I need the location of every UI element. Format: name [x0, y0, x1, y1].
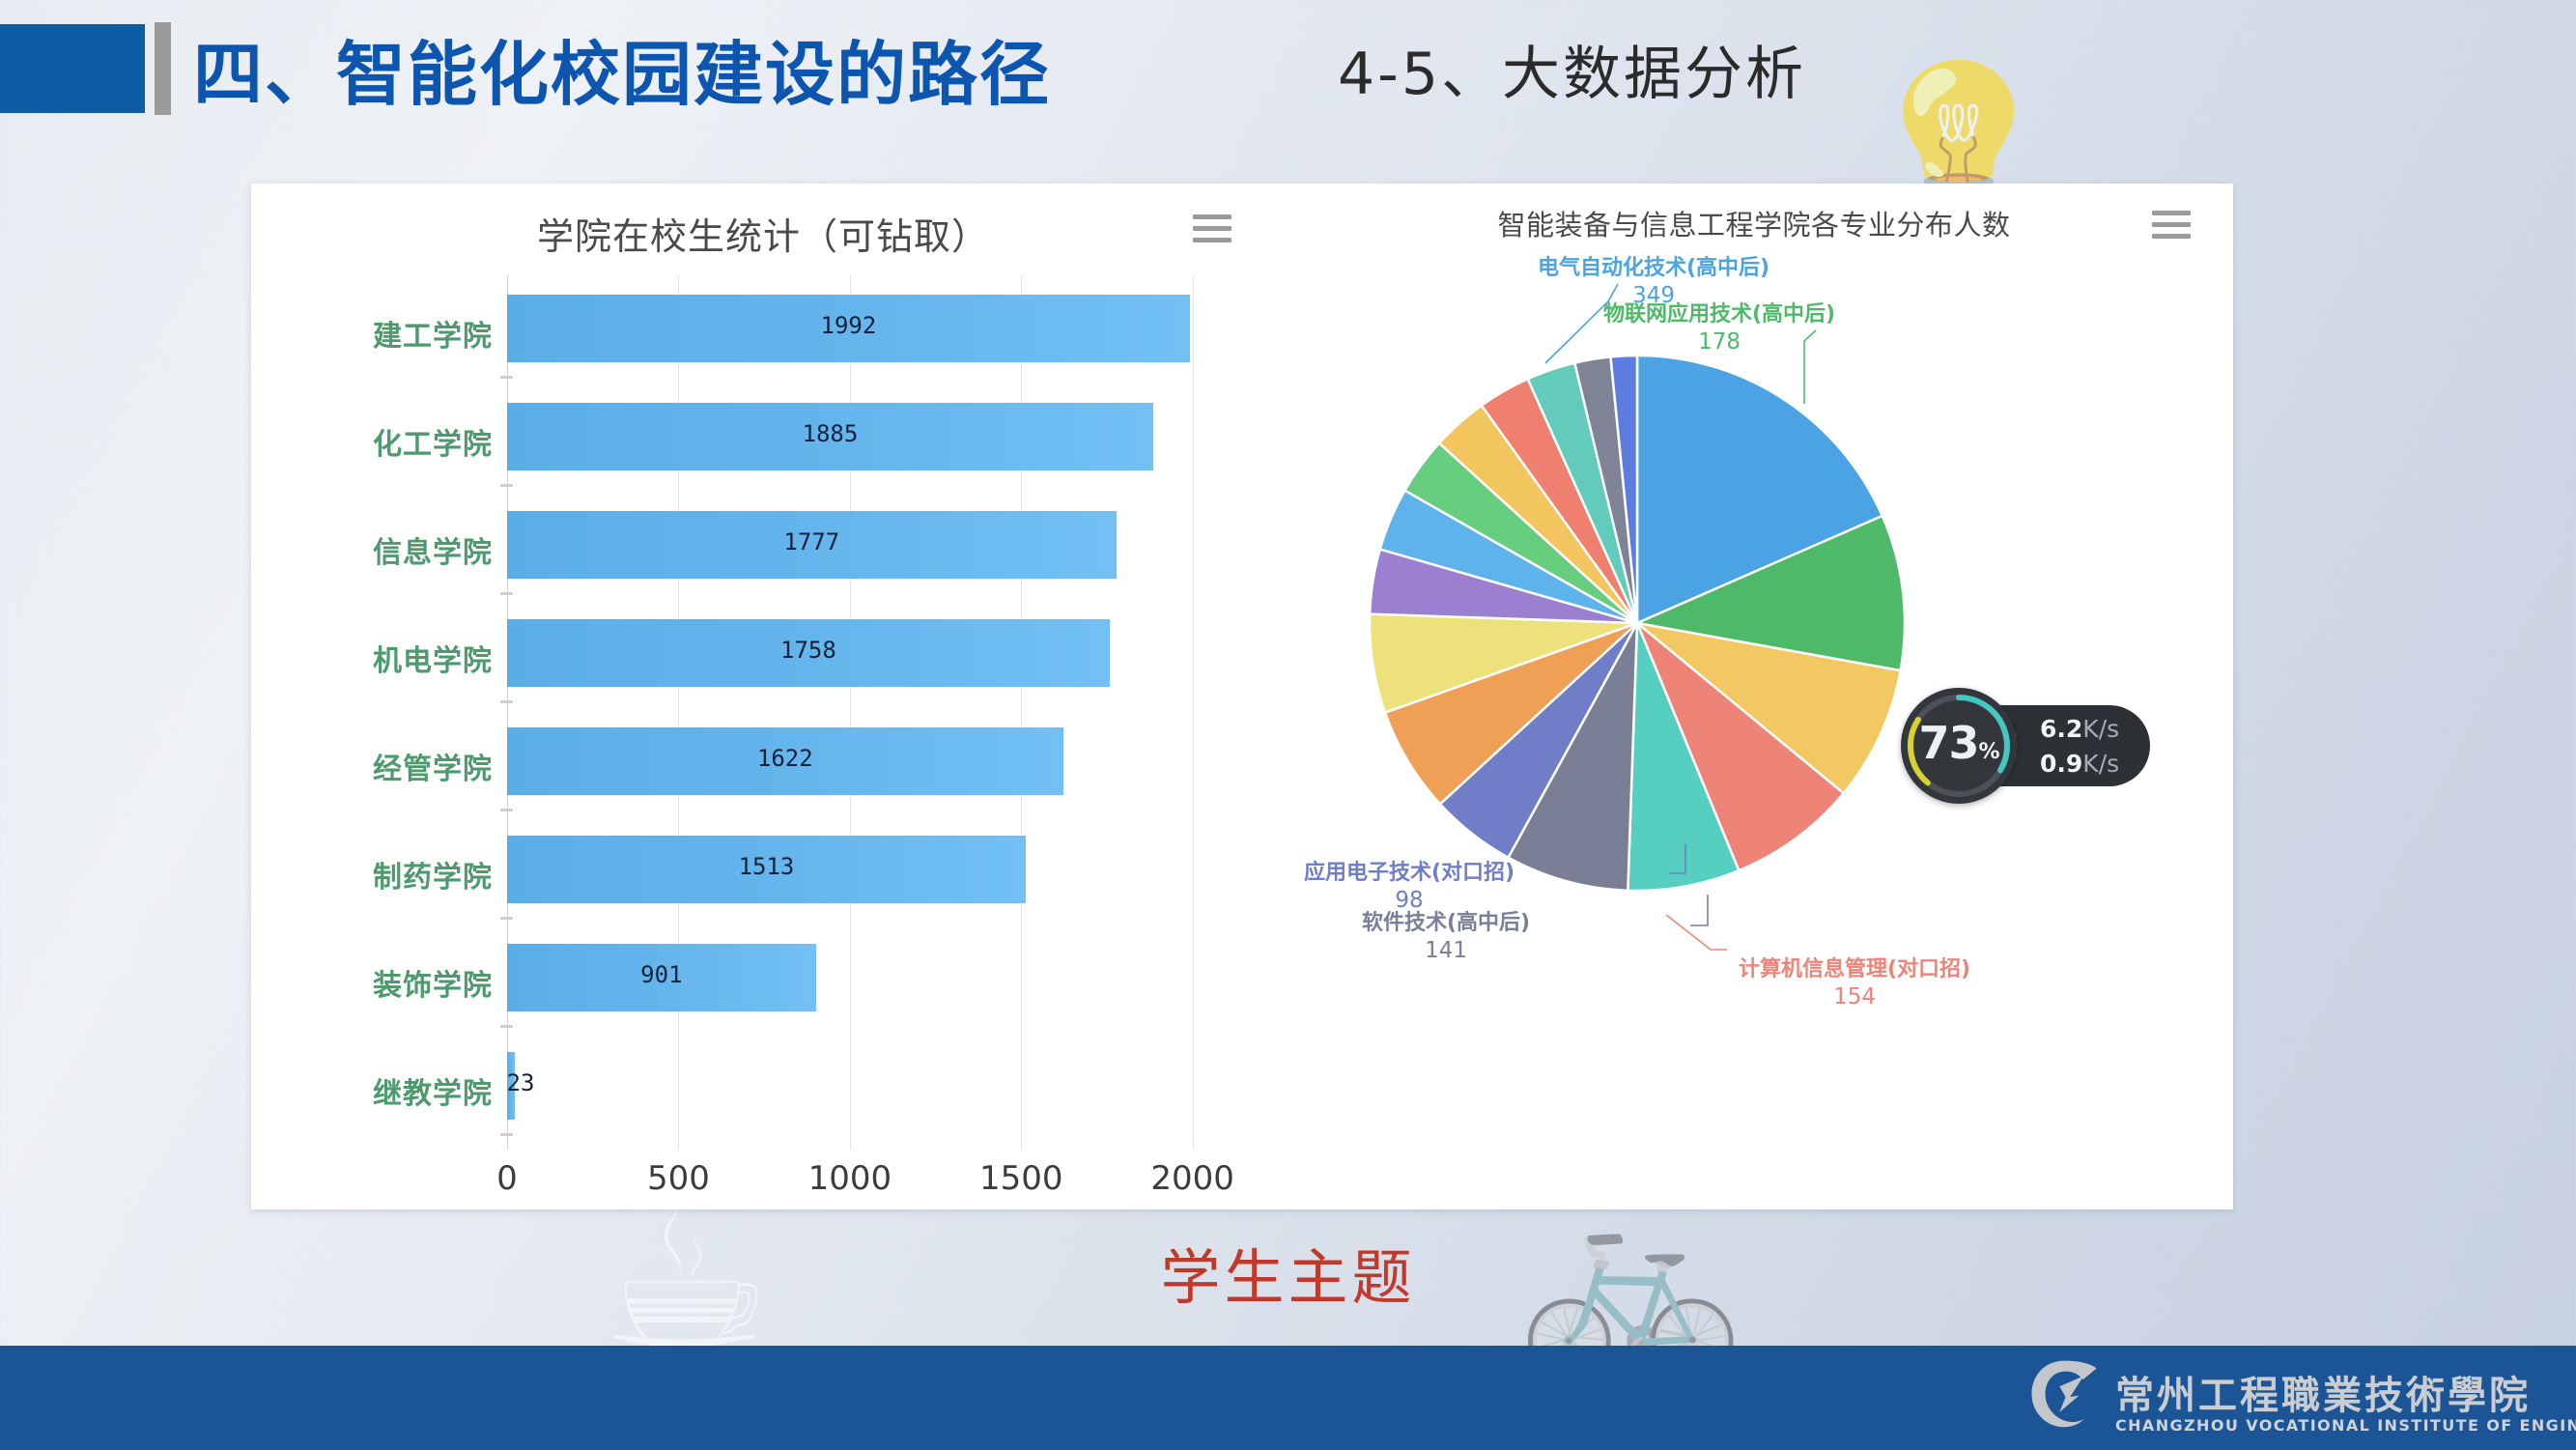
- download-speed-row: ▼ 0.9K/s: [1997, 748, 2142, 781]
- bar-chart-category-label: 建工学院: [251, 312, 493, 355]
- download-speed-value: 0.9K/s: [2040, 750, 2119, 778]
- bar-chart-track: 1758: [507, 600, 1275, 708]
- bar-chart-value-label: 901: [640, 961, 682, 988]
- bar-chart-row[interactable]: 继教学院23: [251, 1033, 1275, 1141]
- bar-chart-row[interactable]: 装饰学院901: [251, 924, 1275, 1033]
- slide-caption: 学生主题: [0, 1229, 2576, 1316]
- pie-leader-line: [1545, 284, 1618, 363]
- bar-chart-category-label: 机电学院: [251, 637, 493, 679]
- bar-chart-xtick-label: 1000: [808, 1159, 892, 1198]
- bar-chart-track: 1777: [507, 492, 1275, 600]
- footer-university-name-en: CHANGZHOU VOCATIONAL INSTITUTE OF ENGINE…: [2115, 1416, 2576, 1435]
- bar-chart-row[interactable]: 信息学院1777: [251, 492, 1275, 600]
- page-subtitle: 4-5、大数据分析: [1338, 27, 1806, 111]
- bar-chart-value-label: 1622: [757, 745, 813, 772]
- bar-chart-value-label: 1513: [739, 853, 795, 880]
- bar-chart-category-label: 信息学院: [251, 528, 493, 571]
- bar-chart-track: 1885: [507, 384, 1275, 492]
- network-speed-widget[interactable]: ▲ 6.2K/s ▼ 0.9K/s 73%: [1901, 688, 2171, 804]
- header-accent-block: [0, 24, 145, 113]
- upload-speed-row: ▲ 6.2K/s: [1997, 713, 2142, 746]
- bar-chart-track: 1992: [507, 275, 1275, 384]
- bar-chart-category-label: 制药学院: [251, 853, 493, 896]
- bar-chart-category-label: 装饰学院: [251, 961, 493, 1004]
- pie-leader-line: [1690, 895, 1708, 925]
- bar-chart-track: 901: [507, 924, 1275, 1033]
- bar-chart-value-label: 1885: [803, 420, 859, 447]
- pie-leader-line: [1669, 843, 1685, 873]
- bar-chart-value-label: 1992: [821, 312, 877, 339]
- university-logo-icon: [2026, 1356, 2102, 1432]
- page-title: 四、智能化校园建设的路径: [193, 17, 1051, 119]
- bar-chart-value-label: 1777: [783, 528, 839, 555]
- bar-chart-category-label: 化工学院: [251, 420, 493, 463]
- bar-chart-track: 1513: [507, 816, 1275, 924]
- slide-header: 四、智能化校园建设的路径 4-5、大数据分析: [0, 0, 2576, 135]
- bar-chart-row[interactable]: 建工学院1992: [251, 275, 1275, 384]
- bar-chart-row[interactable]: 制药学院1513: [251, 816, 1275, 924]
- bar-chart-row[interactable]: 经管学院1622: [251, 708, 1275, 816]
- cpu-usage-gauge: 73%: [1901, 688, 2017, 804]
- bar-chart-xtick-label: 2000: [1150, 1159, 1234, 1198]
- bar-chart-category-label: 经管学院: [251, 745, 493, 787]
- bar-chart-hamburger-icon[interactable]: [1193, 214, 1231, 243]
- upload-speed-value: 6.2K/s: [2040, 715, 2119, 743]
- bar-chart-row[interactable]: 机电学院1758: [251, 600, 1275, 708]
- pie-leader-line: [1666, 915, 1727, 950]
- bar-chart-title: 学院在校生统计（可钻取）: [251, 207, 1275, 260]
- bar-chart-panel: 学院在校生统计（可钻取） 0500100015002000建工学院1992化工学…: [251, 184, 1275, 1209]
- bar-chart-row[interactable]: 化工学院1885: [251, 384, 1275, 492]
- bar-chart-xtick-label: 0: [496, 1159, 518, 1198]
- pie-leader-line: [1804, 330, 1816, 404]
- bar-chart-value-label: 1758: [780, 637, 836, 664]
- bar-chart-xtick-label: 500: [647, 1159, 710, 1198]
- bar-chart-category-label: 继教学院: [251, 1069, 493, 1112]
- bar-chart-value-label: 23: [507, 1069, 535, 1096]
- bar-chart-xtick-label: 1500: [979, 1159, 1063, 1198]
- bar-chart-track: 23: [507, 1033, 1275, 1141]
- gauge-percent-label: 73%: [1901, 717, 2017, 769]
- footer-university-name-cn: 常州工程職業技術學院: [2115, 1364, 2531, 1420]
- bar-chart-track: 1622: [507, 708, 1275, 816]
- header-accent-bar: [155, 22, 171, 115]
- bar-chart[interactable]: 0500100015002000建工学院1992化工学院1885信息学院1777…: [251, 275, 1275, 1174]
